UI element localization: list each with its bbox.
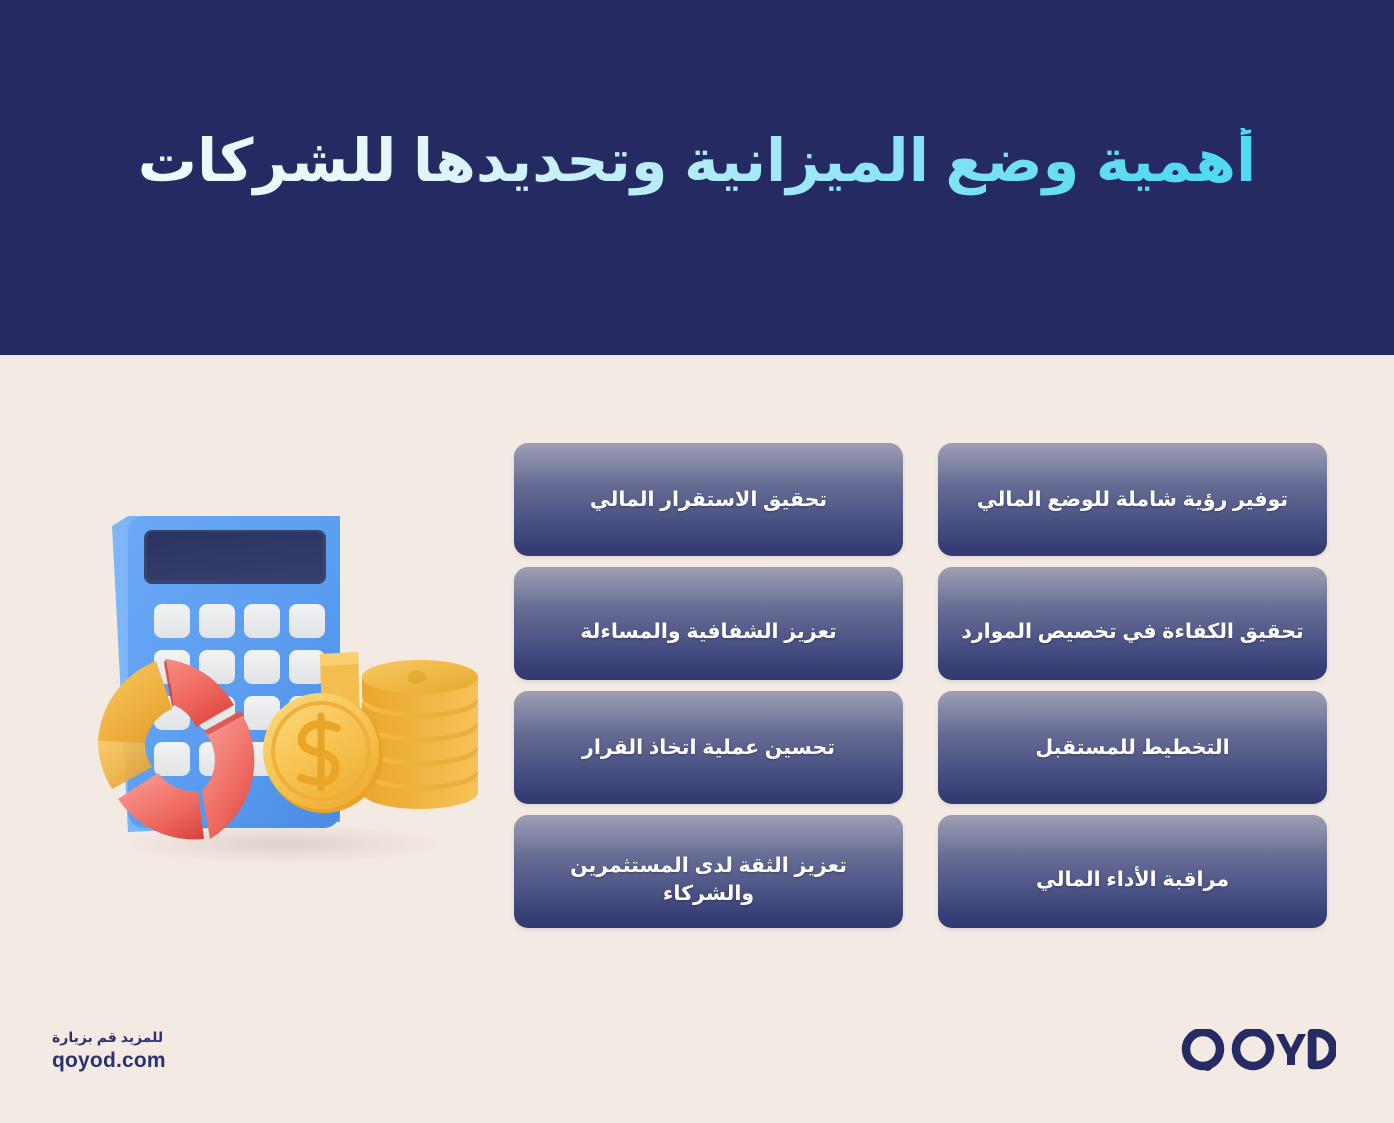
card-label: تحسين عملية اتخاذ القرار [582, 734, 835, 762]
card-label: مراقبة الأداء المالي [1036, 866, 1229, 894]
card-label: التخطيط للمستقبل [1035, 734, 1229, 762]
card-label: تعزيز الشفافية والمساءلة [580, 618, 837, 646]
infographic-poster: أهمية وضع الميزانية وتحديدها للشركات [0, 0, 1394, 1123]
footer-note-line1: للمزيد قم بزيارة [52, 1028, 292, 1048]
card-transparency-accountability[interactable]: تعزيز الشفافية والمساءلة [514, 567, 903, 680]
card-label: توفير رؤية شاملة للوضع المالي [977, 486, 1288, 514]
card-investor-partner-confidence[interactable]: تعزيز الثقة لدى المستثمرين والشركاء [514, 815, 903, 928]
footer-website-url[interactable]: qoyod.com [52, 1048, 292, 1073]
benefits-card-grid: توفير رؤية شاملة للوضع المالي تحقيق الاس… [514, 443, 1327, 927]
card-label: تحقيق الاستقرار المالي [590, 486, 827, 514]
card-financial-stability[interactable]: تحقيق الاستقرار المالي [514, 443, 903, 556]
card-comprehensive-financial-view[interactable]: توفير رؤية شاملة للوضع المالي [938, 443, 1327, 556]
card-label: تحقيق الكفاءة في تخصيص الموارد [961, 618, 1303, 646]
header-band: أهمية وضع الميزانية وتحديدها للشركات [0, 0, 1394, 355]
card-resource-allocation-efficiency[interactable]: تحقيق الكفاءة في تخصيص الموارد [938, 567, 1327, 680]
card-decision-making-improvement[interactable]: تحسين عملية اتخاذ القرار [514, 691, 903, 804]
calculator-donut-chart-coins-illustration [72, 492, 492, 872]
card-label: تعزيز الثقة لدى المستثمرين والشركاء [532, 852, 885, 907]
page-title: أهمية وضع الميزانية وتحديدها للشركات [0, 128, 1394, 196]
footer-visit-note: للمزيد قم بزيارة qoyod.com [52, 1028, 292, 1073]
card-future-planning[interactable]: التخطيط للمستقبل [938, 691, 1327, 804]
card-financial-performance-monitoring[interactable]: مراقبة الأداء المالي [938, 815, 1327, 928]
qoyod-logo: QOYOD [1181, 1029, 1336, 1075]
